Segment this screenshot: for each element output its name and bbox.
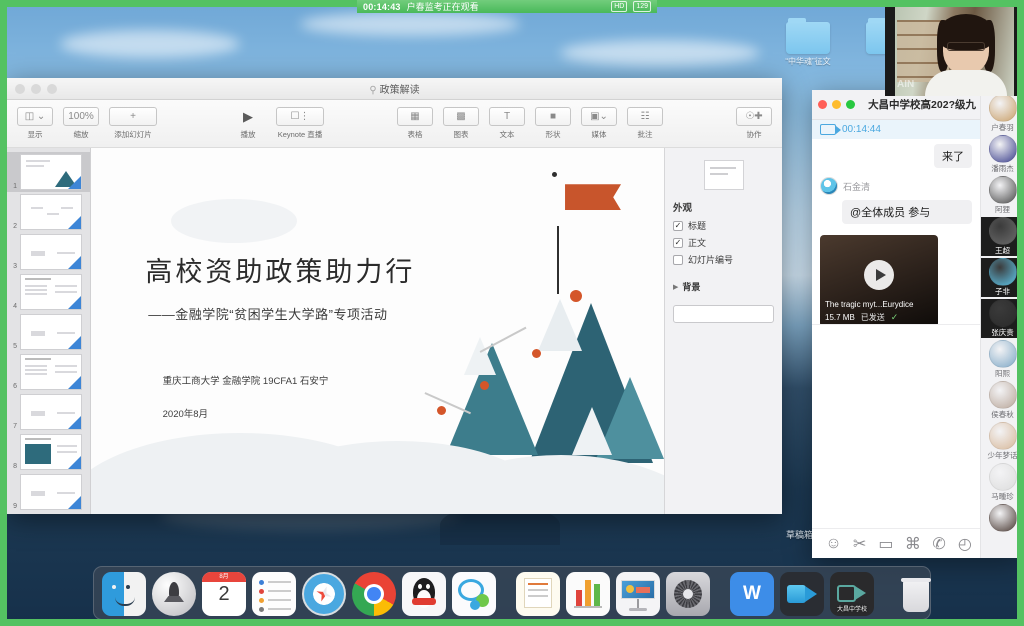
slide-number: 2 — [9, 223, 17, 230]
mountain-left-snowcap — [464, 337, 496, 375]
keynote-live-icon: ☐⋮ — [276, 107, 324, 126]
avatar[interactable] — [989, 504, 1017, 532]
message-bubble: 来了 — [934, 144, 972, 168]
keynote-base — [629, 608, 647, 611]
checkbox-body[interactable]: ✓ — [673, 238, 683, 248]
qq-member-name: 子非 — [981, 286, 1024, 297]
qq-member-10[interactable]: 马畽珍 — [981, 463, 1024, 502]
checkbox-slide-number-label: 幻灯片编号 — [688, 253, 733, 266]
dock-item-qq[interactable] — [402, 572, 446, 616]
dock-item-chrome[interactable] — [352, 572, 396, 616]
inspector-appearance-heading: 外观 — [673, 200, 774, 214]
toolbar-zoom-button[interactable]: 100% 缩放 — [63, 107, 99, 140]
cloud-decoration — [60, 30, 240, 58]
avatar[interactable] — [989, 94, 1017, 122]
slide-thumbnail-6[interactable]: 6 — [7, 352, 90, 392]
qq-call-banner[interactable]: 00:14:44 — [812, 120, 980, 139]
lock-icon: ⚲ — [369, 85, 376, 96]
toolbar-shape-button[interactable]: ■ 形状 — [535, 107, 571, 140]
flag-banner — [565, 184, 621, 210]
trash-icon — [903, 580, 929, 612]
qq-member-name: 张庆贵 — [981, 327, 1024, 338]
reminder-dot — [259, 598, 264, 603]
slide-navigator[interactable]: 123456789 — [7, 148, 91, 514]
toolbar-table-button[interactable]: ▦ 表格 — [397, 107, 433, 140]
qq-member-2[interactable]: 潘雨杰 — [981, 135, 1024, 174]
dock-item-pages[interactable] — [516, 572, 560, 616]
qq-member-4[interactable]: 王超 — [981, 217, 1024, 256]
recording-status-bar[interactable]: 00:14:43 户春监考正在观看 HD 129 — [357, 0, 657, 13]
chrome-core — [367, 587, 381, 601]
dock-item-calendar[interactable]: 8月 2 — [202, 572, 246, 616]
toolbar-text-label: 文本 — [489, 129, 525, 140]
avatar[interactable] — [989, 135, 1017, 163]
dock-item-numbers[interactable] — [566, 572, 610, 616]
qq-member-8[interactable]: 侯春秋 — [981, 381, 1024, 420]
qq-member-6[interactable]: 张庆贵 — [981, 299, 1024, 338]
keynote-titlebar[interactable]: ⚲政策解读 — [7, 78, 782, 100]
recorder-label: 大昌中学校 — [830, 604, 874, 613]
toolbar-comment-button[interactable]: ☷ 批注 — [627, 107, 663, 140]
checkbox-row-title[interactable]: ✓ 标题 — [673, 219, 774, 232]
slide-number: 8 — [9, 463, 17, 470]
plus-icon: + — [109, 107, 157, 126]
webcam-watermark: AIN — [897, 79, 914, 90]
background-fill-field[interactable] — [673, 305, 774, 323]
qq-sender-row: 石金清 — [812, 173, 980, 195]
qq-member-name: 阿狸 — [981, 204, 1024, 215]
dock-item-tencent-meeting[interactable] — [780, 572, 824, 616]
dock-item-tim[interactable] — [452, 572, 496, 616]
dock-item-trash[interactable] — [894, 572, 938, 616]
route-dot-base — [437, 406, 446, 415]
slide-title: 高校资助政策助力行 — [145, 250, 415, 289]
toolbar-view-button[interactable]: ◫ ⌄ 显示 — [17, 107, 53, 140]
qq-close-button[interactable] — [818, 100, 827, 109]
comment-icon: ☷ — [627, 107, 663, 126]
flag-pole-cap — [552, 172, 557, 177]
mountain-small-white — [572, 407, 612, 455]
qq-message-input[interactable] — [812, 324, 980, 529]
slide-number: 1 — [9, 183, 17, 190]
slide-thumbnail-1[interactable]: 1 — [7, 152, 90, 192]
slide-thumbnail-3[interactable]: 3 — [7, 232, 90, 272]
slide-thumbnail-8[interactable]: 8 — [7, 432, 90, 472]
toolbar-shape-label: 形状 — [535, 129, 571, 140]
reminder-line — [268, 581, 291, 583]
penguin-eye — [418, 584, 422, 589]
slide-preview — [20, 234, 82, 270]
preview-line — [710, 173, 728, 175]
qq-member-name: 王超 — [981, 245, 1024, 256]
slide-number: 6 — [9, 383, 17, 390]
slide-preview — [20, 154, 82, 190]
route-dot-low — [480, 381, 489, 390]
table-icon: ▦ — [397, 107, 433, 126]
dock[interactable]: 8月 2 — [93, 566, 931, 620]
glasses-icon — [947, 42, 985, 51]
qq-member-list[interactable]: 户春羽潘雨杰阿狸王超子非张庆贵阳熙侯春秋少年梦话马畽珍 — [980, 90, 1024, 558]
qq-member-name: 潘雨杰 — [981, 163, 1024, 174]
viewer-count-badge[interactable]: 129 — [633, 1, 651, 12]
calendar-month: 8月 — [202, 572, 246, 582]
reminder-line — [268, 590, 291, 592]
toolbar-table-label: 表格 — [397, 129, 433, 140]
rocket-fins — [164, 596, 184, 602]
reminder-line — [268, 608, 291, 610]
person-shirt — [925, 70, 1007, 96]
keynote-document-title: ⚲政策解读 — [7, 81, 782, 96]
slide-author: 重庆工商大学 金融学院 19CFA1 石安宁 — [163, 373, 329, 387]
keynote-toolbar[interactable]: ◫ ⌄ 显示 100% 缩放 + 添加幻灯片 ▶ 播放 — [7, 100, 782, 148]
slide-number: 9 — [9, 503, 17, 510]
reminder-dot — [259, 607, 264, 612]
dock-item-system-preferences[interactable] — [666, 572, 710, 616]
pages-line — [528, 583, 548, 585]
qq-sender-name: 石金清 — [843, 180, 870, 193]
play-icon: ▶ — [230, 107, 266, 126]
keynote-shape — [636, 587, 650, 593]
desktop-folder-label: “中华魂”征文 — [780, 56, 836, 67]
slide-number: 5 — [9, 343, 17, 350]
avatar[interactable] — [989, 217, 1017, 245]
inspector-background-section[interactable]: ▶ 背景 — [673, 280, 774, 293]
qq-video-attachment[interactable]: The tragic myt...Eurydice 15.7 MB 已发送 ✓ — [820, 235, 938, 324]
history-icon[interactable]: ◴ — [958, 536, 972, 551]
dock-item-launchpad[interactable] — [152, 572, 196, 616]
slide-number: 4 — [9, 303, 17, 310]
slide-preview — [20, 394, 82, 430]
zoom-value: 100% — [63, 107, 99, 126]
gift-icon[interactable]: ⌘ — [905, 536, 920, 551]
toolbar-collab-label: 协作 — [736, 129, 772, 140]
media-icon: ▣⌄ — [581, 107, 617, 126]
toolbar-play-label: 播放 — [230, 129, 266, 140]
slide-canvas[interactable]: 高校资助政策助力行 ——金融学院“贫困学生大学路”专项活动 重庆工商大学 金融学… — [91, 148, 664, 514]
avatar[interactable] — [989, 463, 1017, 491]
format-inspector[interactable]: 外观 ✓ 标题 ✓ 正文 幻灯片编号 ▶ 背景 — [664, 148, 782, 514]
shape-icon: ■ — [535, 107, 571, 126]
slide-preview — [20, 474, 82, 510]
slide-thumbnail-5[interactable]: 5 — [7, 312, 90, 352]
emoji-icon[interactable]: ☺ — [826, 536, 841, 551]
video-camera-icon — [820, 124, 836, 135]
video-send-status: 已发送 — [861, 312, 885, 323]
numbers-bar — [576, 590, 582, 606]
toolbar-left-group: ◫ ⌄ 显示 100% 缩放 + 添加幻灯片 — [17, 107, 157, 140]
finder-eye — [126, 585, 130, 589]
slide-thumbnail-9[interactable]: 9 — [7, 472, 90, 512]
toolbar-insert-group: ▦ 表格 ▩ 图表 T 文本 ■ 形状 ▣⌄ 媒体 — [397, 107, 663, 140]
slide-preview — [20, 274, 82, 310]
qq-maximize-button[interactable] — [846, 100, 855, 109]
keynote-window[interactable]: ⚲政策解读 ◫ ⌄ 显示 100% 缩放 + 添加幻灯片 — [7, 78, 782, 514]
view-icon: ◫ ⌄ — [17, 107, 53, 126]
toolbar-media-button[interactable]: ▣⌄ 媒体 — [581, 107, 617, 140]
avatar[interactable] — [989, 299, 1017, 327]
dock-item-safari[interactable] — [302, 572, 346, 616]
cloud-decoration — [300, 12, 520, 36]
keynote-shape — [626, 585, 634, 593]
reminder-line — [268, 599, 291, 601]
qq-member-11[interactable] — [981, 504, 1024, 532]
toolbar-text-button[interactable]: T 文本 — [489, 107, 525, 140]
slide-preview — [20, 354, 82, 390]
recorder-camera-body — [837, 585, 856, 602]
slide-layout-preview[interactable] — [704, 160, 744, 190]
qq-group-title: 大昌中学校高202?级九 — [858, 97, 976, 112]
webcam-video-feed[interactable]: AIN — [885, 0, 1024, 96]
slide-preview — [20, 194, 82, 230]
meeting-camera-lens — [805, 586, 817, 602]
text-icon: T — [489, 107, 525, 126]
dock-item-screen-recorder[interactable]: 大昌中学校 — [830, 572, 874, 616]
checkbox-row-slide-number[interactable]: 幻灯片编号 — [673, 253, 774, 266]
toolbar-chart-label: 图表 — [443, 129, 479, 140]
pages-line — [528, 589, 548, 591]
cloud-top-left — [171, 199, 297, 243]
finder-smile — [115, 597, 135, 606]
check-icon: ✓ — [891, 312, 899, 323]
numbers-bar — [594, 584, 600, 606]
toolbar-play-group: ▶ 播放 ☐⋮ Keynote 直播 — [230, 107, 324, 140]
reminder-dot — [259, 580, 264, 585]
qq-member-name: 户春羽 — [981, 122, 1024, 133]
toolbar-add-slide-label: 添加幻灯片 — [109, 129, 157, 140]
slide-preview — [20, 314, 82, 350]
slide-number: 3 — [9, 263, 17, 270]
toolbar-live-label: Keynote 直播 — [276, 129, 324, 140]
checkbox-row-body[interactable]: ✓ 正文 — [673, 236, 774, 249]
numbers-bar — [585, 580, 591, 606]
inspector-background-label: 背景 — [682, 280, 700, 293]
dock-item-keynote[interactable] — [616, 572, 660, 616]
keynote-title-text: 政策解读 — [380, 85, 420, 96]
checkbox-title[interactable]: ✓ — [673, 221, 683, 231]
toolbar-view-label: 显示 — [17, 129, 53, 140]
qq-member-3[interactable]: 阿狸 — [981, 176, 1024, 215]
preview-line — [710, 167, 736, 169]
play-icon[interactable] — [864, 260, 894, 290]
qq-message-incoming[interactable]: @全体成员 参与 — [812, 195, 980, 229]
slide-subtitle: ——金融学院“贫困学生大学路”专项活动 — [148, 304, 387, 323]
avatar[interactable] — [989, 381, 1017, 409]
finder-eye — [112, 585, 116, 589]
avatar[interactable] — [989, 176, 1017, 204]
avatar[interactable] — [820, 177, 838, 195]
qq-toolbar[interactable]: ☺✂▭⌘✆◴ — [812, 528, 980, 558]
penguin-eye — [426, 584, 430, 589]
trash-lid — [901, 578, 931, 582]
meeting-camera-body — [787, 585, 806, 603]
reminder-dot — [259, 589, 264, 594]
qq-call-timer: 00:14:44 — [842, 124, 881, 135]
qq-minimize-button[interactable] — [832, 100, 841, 109]
mountain-main-snowcap — [538, 299, 582, 351]
desktop-screen: “中华魂”征文 AIN ⚲政策解读 ◫ ⌄ 显示 — [0, 0, 1024, 626]
video-filesize: 15.7 MB — [825, 313, 855, 322]
qq-member-7[interactable]: 阳熙 — [981, 340, 1024, 379]
tim-dot-blue — [470, 600, 480, 610]
desktop-folder-zhonghuahun[interactable]: “中华魂”征文 — [780, 22, 836, 67]
qq-message-list[interactable]: 00:14:44 来了 石金清 @全体成员 参与 The tragic myt.… — [812, 120, 980, 324]
avatar[interactable] — [989, 340, 1017, 368]
keynote-body: 123456789 — [7, 148, 782, 514]
calendar-day: 2 — [202, 583, 246, 606]
gear-center — [683, 589, 693, 599]
slide-thumbnail-4[interactable]: 4 — [7, 272, 90, 312]
checkbox-slide-number[interactable] — [673, 255, 683, 265]
slide-1[interactable]: 高校资助政策助力行 ——金融学院“贫困学生大学路”专项活动 重庆工商大学 金融学… — [91, 148, 664, 514]
wps-logo-label: W — [743, 583, 761, 605]
qq-member-name: 马畽珍 — [981, 491, 1024, 502]
slide-number: 7 — [9, 423, 17, 430]
toolbar-live-button[interactable]: ☐⋮ Keynote 直播 — [276, 107, 324, 140]
scissors-icon[interactable]: ✂ — [853, 536, 866, 551]
phone-icon[interactable]: ✆ — [932, 536, 945, 551]
recording-timer: 00:14:43 — [363, 2, 401, 12]
video-filename: The tragic myt...Eurydice — [825, 300, 934, 309]
video-meta: 15.7 MB 已发送 ✓ — [825, 312, 898, 323]
chart-icon: ▩ — [443, 107, 479, 126]
toolbar-zoom-label: 缩放 — [63, 129, 99, 140]
qq-chat-window[interactable]: 大昌中学校高202?级九 00:14:44 来了 石金清 @全体成员 参与 — [812, 90, 1024, 558]
qq-member-9[interactable]: 少年梦话 — [981, 422, 1024, 461]
dock-item-wps-office[interactable]: W — [730, 572, 774, 616]
flag-pole — [557, 226, 559, 294]
hd-badge[interactable]: HD — [611, 1, 627, 12]
recorder-camera-lens — [855, 586, 866, 600]
toolbar-collaborate-button[interactable]: ☉✚ 协作 — [736, 107, 772, 140]
compass-needle-icon — [314, 584, 335, 605]
dock-item-reminders[interactable] — [252, 572, 296, 616]
toolbar-media-label: 媒体 — [581, 129, 617, 140]
toolbar-play-button[interactable]: ▶ 播放 — [230, 107, 266, 140]
recording-status-text: 户春监考正在观看 — [407, 0, 479, 13]
toolbar-comment-label: 批注 — [627, 129, 663, 140]
qq-main-panel: 大昌中学校高202?级九 00:14:44 来了 石金清 @全体成员 参与 — [812, 90, 980, 558]
qq-member-name: 少年梦话 — [981, 450, 1024, 461]
qq-member-name: 侯春秋 — [981, 409, 1024, 420]
slide-preview — [20, 434, 82, 470]
slide-thumbnail-2[interactable]: 2 — [7, 192, 90, 232]
toolbar-chart-button[interactable]: ▩ 图表 — [443, 107, 479, 140]
qq-message-outgoing[interactable]: 来了 — [812, 139, 980, 173]
numbers-axis — [574, 606, 602, 608]
checkbox-body-label: 正文 — [688, 236, 706, 249]
checkbox-title-label: 标题 — [688, 219, 706, 232]
slide-thumbnail-7[interactable]: 7 — [7, 392, 90, 432]
desktop-draft-label: 草稿箱 — [786, 528, 813, 541]
folder-icon — [786, 22, 830, 54]
dock-item-finder[interactable] — [102, 572, 146, 616]
penguin-scarf — [412, 598, 436, 605]
pages-line — [528, 595, 548, 597]
qq-member-1[interactable]: 户春羽 — [981, 94, 1024, 133]
avatar[interactable] — [989, 422, 1017, 450]
folder-icon[interactable]: ▭ — [878, 536, 893, 551]
toolbar-add-slide-button[interactable]: + 添加幻灯片 — [109, 107, 157, 140]
message-bubble: @全体成员 参与 — [842, 200, 972, 224]
cloud-decoration — [560, 40, 760, 66]
avatar[interactable] — [989, 258, 1017, 286]
slide-date: 2020年8月 — [163, 406, 208, 420]
qq-member-name: 阳熙 — [981, 368, 1024, 379]
route-dot-top — [570, 290, 582, 302]
qq-member-5[interactable]: 子非 — [981, 258, 1024, 297]
collaborate-icon: ☉✚ — [736, 107, 772, 126]
chevron-right-icon: ▶ — [673, 283, 678, 291]
